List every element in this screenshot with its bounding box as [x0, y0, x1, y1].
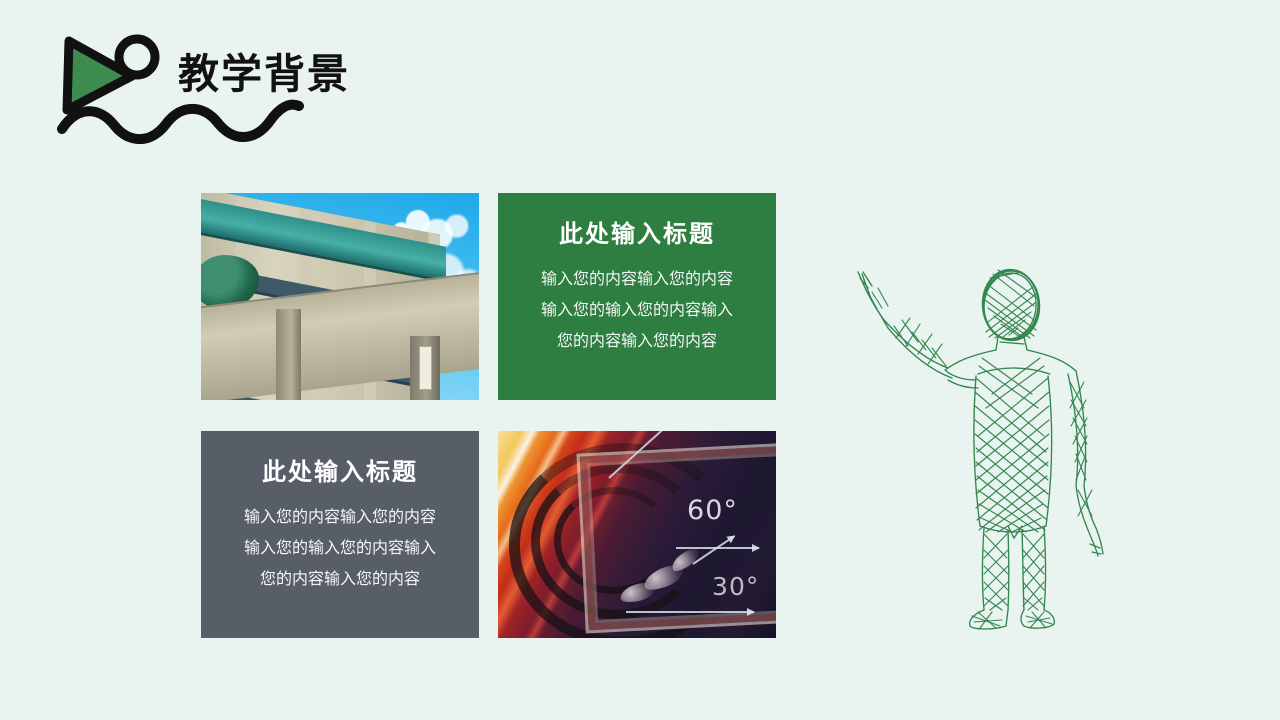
school-nameplate	[419, 346, 432, 389]
wall-pillar	[276, 309, 301, 400]
card-gray-body-line-2: 输入您的输入您的内容输入	[219, 532, 461, 563]
card-gray-body-line-1: 输入您的内容输入您的内容	[219, 501, 461, 532]
circle-outline-icon	[119, 39, 155, 75]
card-green-title: 此处输入标题	[516, 219, 758, 249]
card-gray-text[interactable]: 此处输入标题 输入您的内容输入您的内容 输入您的输入您的内容输入 您的内容输入您…	[201, 431, 479, 638]
card-green-text[interactable]: 此处输入标题 输入您的内容输入您的内容 输入您的输入您的内容输入 您的内容输入您…	[498, 193, 776, 400]
content-card-grid: 此处输入标题 输入您的内容输入您的内容 输入您的输入您的内容输入 您的内容输入您…	[201, 193, 776, 638]
tech-angle-label-30: 30°	[712, 572, 759, 601]
card-school-photo[interactable]	[201, 193, 479, 400]
card-green-body-line-2: 输入您的输入您的内容输入	[516, 294, 758, 325]
tech-angle-label-60: 60°	[687, 495, 738, 526]
slide-header: 教学背景	[52, 24, 472, 144]
card-green-body-line-3: 您的内容输入您的内容	[516, 325, 758, 356]
card-green-body-line-1: 输入您的内容输入您的内容	[516, 263, 758, 294]
card-tech-photo[interactable]: 60° 30°	[498, 431, 776, 638]
tech-abstract-image: 60° 30°	[498, 431, 776, 638]
card-gray-body: 输入您的内容输入您的内容 输入您的输入您的内容输入 您的内容输入您的内容	[219, 501, 461, 594]
card-green-body: 输入您的内容输入您的内容 输入您的输入您的内容输入 您的内容输入您的内容	[516, 263, 758, 356]
card-gray-body-line-3: 您的内容输入您的内容	[219, 563, 461, 594]
school-building-image	[201, 193, 479, 400]
slide-root: 教学背景 此处输入标题 输入您的内容输入您的内容 输入您的输入您的内容输入	[0, 0, 1280, 720]
wavy-line-icon	[62, 105, 299, 139]
teacher-pointing-sketch-illustration	[848, 258, 1108, 630]
tech-arrow-4	[626, 611, 754, 613]
triangle-icon	[67, 41, 132, 110]
card-gray-title: 此处输入标题	[219, 457, 461, 487]
page-title: 教学背景	[178, 48, 350, 100]
tech-frame-panel	[577, 442, 776, 633]
